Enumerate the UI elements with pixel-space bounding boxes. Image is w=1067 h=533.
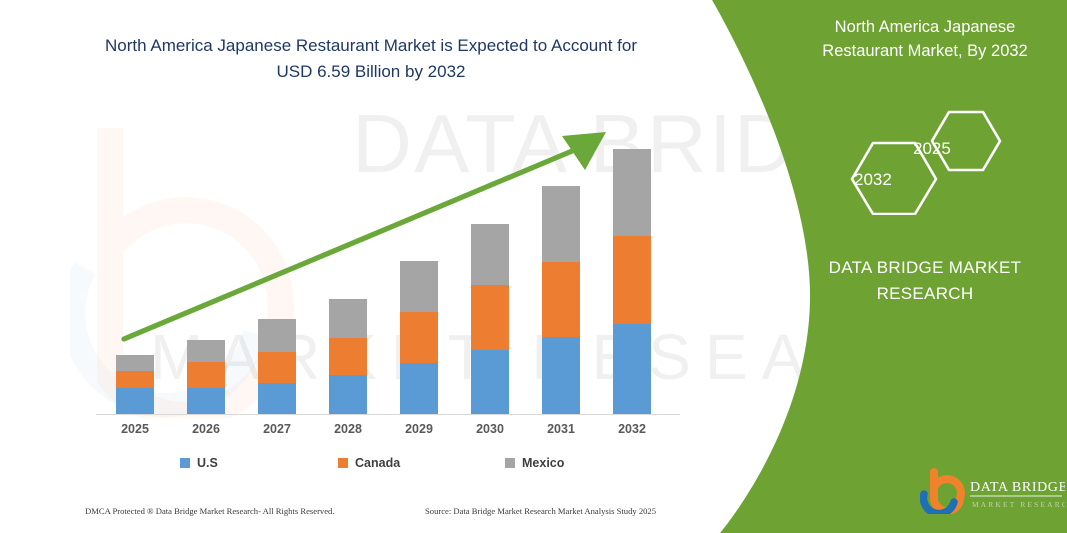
footer: DMCA Protected ® Data Bridge Market Rese…	[85, 506, 685, 522]
bar-segment-Canada-2025	[116, 371, 154, 388]
hexagon-label-2025: 2025	[913, 139, 951, 159]
legend-item-Canada[interactable]: Canada	[338, 456, 400, 470]
growth-arrow-icon	[96, 118, 626, 358]
hexagon-group: 2032 2025	[835, 110, 1025, 215]
bar-segment-US-2029	[400, 363, 438, 414]
legend-item-Mexico[interactable]: Mexico	[505, 456, 564, 470]
x-axis-label-2029: 2029	[387, 422, 451, 436]
legend-label-Mexico: Mexico	[522, 456, 564, 470]
chart-area: 20252026202720282029203020312032	[0, 0, 700, 533]
svg-text:DATA BRIDGE: DATA BRIDGE	[970, 480, 1065, 495]
x-axis-label-2027: 2027	[245, 422, 309, 436]
legend-label-US: U.S	[197, 456, 218, 470]
x-axis-label-2025: 2025	[103, 422, 167, 436]
chart-legend: U.SCanadaMexico	[180, 456, 600, 474]
footer-source: Source: Data Bridge Market Research Mark…	[425, 506, 656, 516]
legend-swatch-Canada	[338, 458, 348, 468]
footer-copyright: DMCA Protected ® Data Bridge Market Rese…	[85, 506, 335, 516]
x-axis-label-2030: 2030	[458, 422, 522, 436]
x-axis-label-2026: 2026	[174, 422, 238, 436]
bar-segment-US-2028	[329, 375, 367, 414]
legend-swatch-Mexico	[505, 458, 515, 468]
bar-segment-US-2026	[187, 388, 225, 414]
bar-segment-US-2025	[116, 388, 154, 414]
x-axis-labels: 20252026202720282029203020312032	[96, 422, 680, 444]
hexagon-label-2032: 2032	[854, 170, 892, 190]
legend-item-US[interactable]: U.S	[180, 456, 218, 470]
x-axis-label-2028: 2028	[316, 422, 380, 436]
panel-title: North America Japanese Restaurant Market…	[800, 16, 1050, 64]
brand-panel: North America Japanese Restaurant Market…	[640, 0, 1067, 533]
legend-label-Canada: Canada	[355, 456, 400, 470]
infographic-root: DATA BRIDGE MARKET RESEARCH North Americ…	[0, 0, 1067, 533]
x-axis-line	[96, 414, 680, 415]
svg-text:MARKET RESEARCH: MARKET RESEARCH	[972, 500, 1065, 509]
dbmr-logo: DATA BRIDGE MARKET RESEARCH	[920, 468, 1065, 514]
legend-swatch-US	[180, 458, 190, 468]
bar-segment-US-2027	[258, 383, 296, 414]
bar-segment-US-2030	[471, 350, 509, 414]
x-axis-label-2031: 2031	[529, 422, 593, 436]
panel-brand-name: DATA BRIDGE MARKET RESEARCH	[780, 255, 1067, 308]
brand-panel-content: North America Japanese Restaurant Market…	[640, 0, 1067, 533]
bar-segment-Canada-2026	[187, 362, 225, 388]
